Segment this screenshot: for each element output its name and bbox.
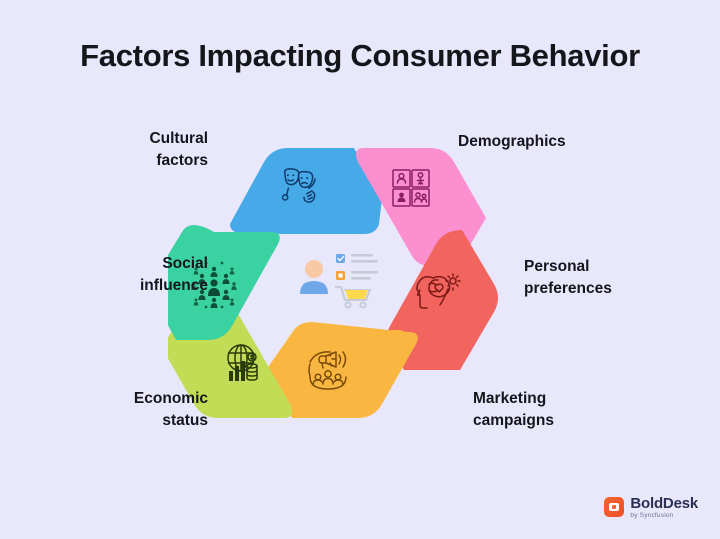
brand-subtitle: by Syncfusion [630, 513, 698, 520]
bolddesk-mark-icon [604, 497, 624, 517]
brand-logo: BoldDesk by Syncfusion [604, 496, 698, 520]
label-personal-preferences: Personal preferences [524, 256, 714, 301]
label-social-influence: Social influence [18, 253, 208, 298]
label-economic-status: Economic status [28, 388, 208, 433]
page-title: Factors Impacting Consumer Behavior [0, 38, 720, 74]
label-marketing-campaigns: Marketing campaigns [473, 388, 673, 433]
center-illustration [300, 254, 378, 308]
brand-name: BoldDesk [630, 496, 698, 511]
label-cultural-factors: Cultural factors [38, 128, 208, 173]
label-demographics: Demographics [458, 131, 688, 153]
cycle-diagram [168, 112, 508, 452]
